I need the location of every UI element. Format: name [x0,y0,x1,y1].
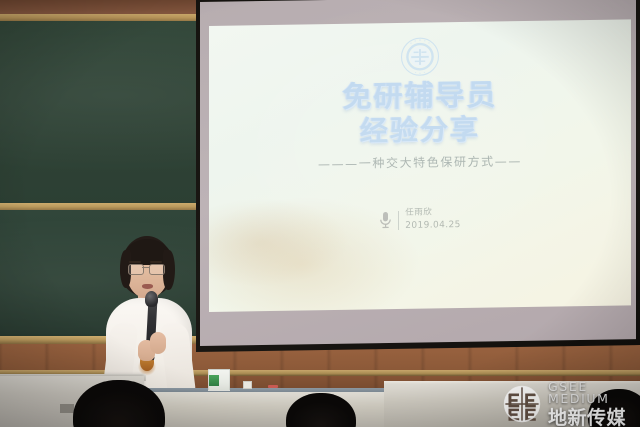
presenter-eyebrow-left [129,261,141,263]
university-seal-icon [400,36,440,77]
microphone-head [145,291,158,307]
microphone-icon [379,211,392,229]
slide-byline: 任雨欣 2019.04.25 [379,206,461,233]
slide-title-line-1: 免研辅导员 [342,79,497,112]
eyeglasses-bridge [142,267,149,268]
watermark-english-text: GSEE MEDIUM [548,381,634,406]
tissue-box-stripe [209,375,219,386]
presenter-mouth [142,284,153,289]
presenter-eyebrow-right [150,261,162,263]
watermark: GSEE MEDIUM 地新传媒 [502,384,634,424]
eyeglasses-lens-right [149,264,165,275]
slide-title-block: 免研辅导员 经验分享 [342,79,497,146]
slide-title-line-2: 经验分享 [342,114,497,146]
slide-subtitle: ———一种交大特色保研方式—— [318,152,522,172]
gsee-logo-icon [502,385,542,423]
presentation-date: 2019.04.25 [405,219,461,233]
classroom-photo-scene: 免研辅导员 经验分享 ———一种交大特色保研方式—— 任雨欣 2019.04.2 [0,0,640,427]
projected-slide: 免研辅导员 经验分享 ———一种交大特色保研方式—— 任雨欣 2019.04.2 [209,19,631,312]
presenter-name: 任雨欣 [405,206,461,219]
left-desk-notch [60,404,74,413]
byline-divider [398,211,399,230]
watermark-chinese-text: 地新传媒 [548,409,634,427]
eyeglasses-lens-left [128,264,144,275]
small-white-object [243,381,252,389]
red-marker [268,385,278,388]
presenter-hand-right [150,332,166,354]
